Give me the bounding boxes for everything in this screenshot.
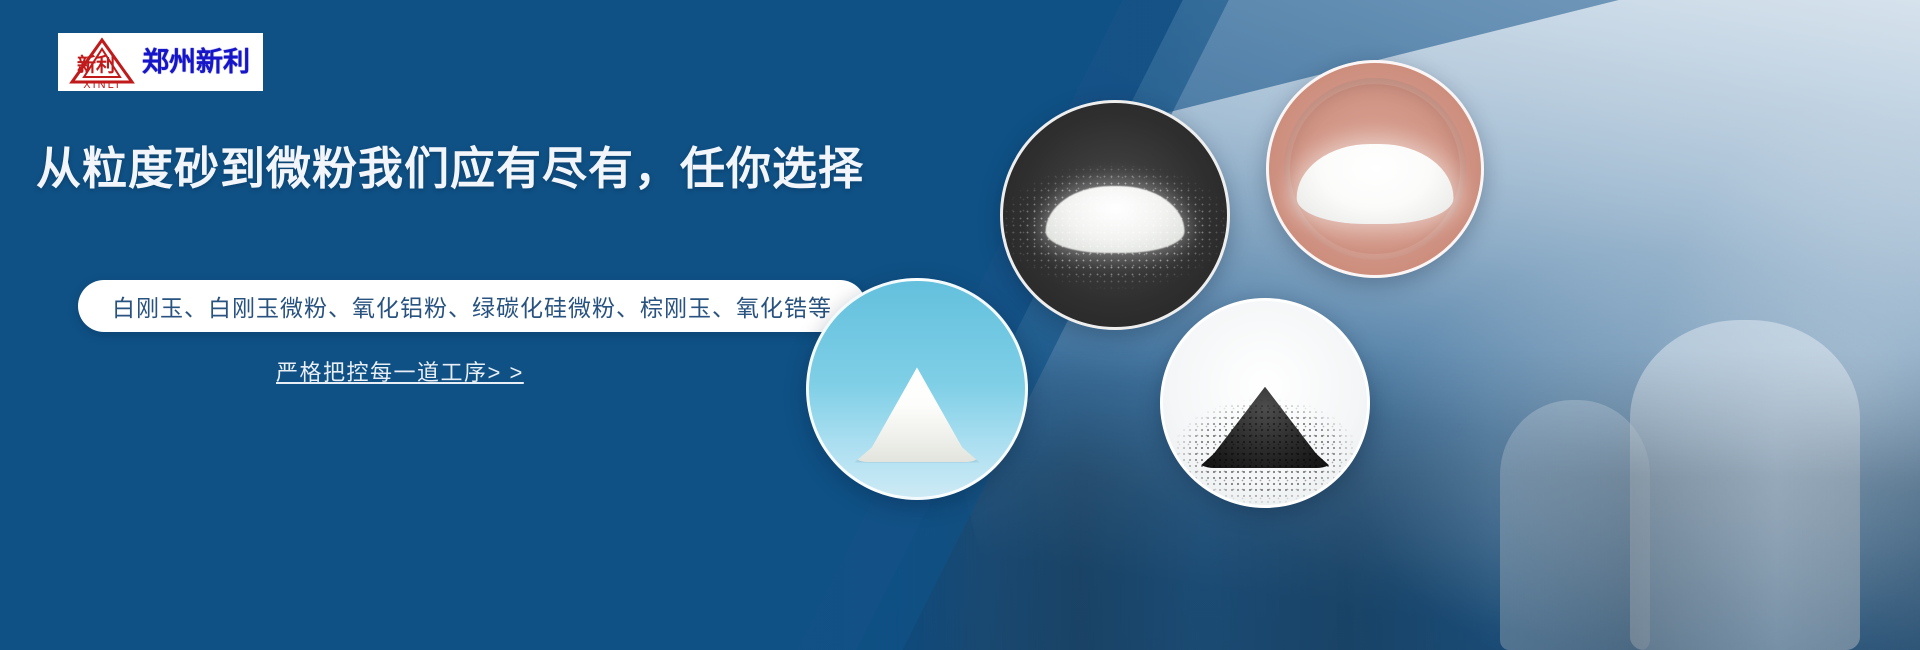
logo-mark-top-text: 新利: [77, 53, 115, 76]
material-heap: [854, 367, 979, 462]
company-logo[interactable]: 新利 XINLI 郑州新利: [58, 33, 263, 91]
product-image-black-grit-pile-on-white[interactable]: [1160, 298, 1370, 508]
cooling-tower-primary: [1630, 320, 1860, 650]
product-image-white-powder-in-pink-dish[interactable]: [1266, 60, 1484, 278]
product-list-text: 白刚玉、白刚玉微粉、氧化铝粉、绿碳化硅微粉、棕刚玉、氧化锆等: [112, 289, 832, 323]
product-image-white-powder-cone-on-blue[interactable]: [806, 278, 1028, 500]
logo-brand-text: 郑州新利: [142, 49, 250, 76]
banner-headline: 从粒度砂到微粉我们应有尽有，任你选择: [36, 144, 864, 194]
logo-mark-bottom-text: XINLI: [83, 79, 121, 89]
cooling-tower-secondary: [1500, 400, 1650, 650]
process-control-link[interactable]: 严格把控每一道工序> >: [276, 355, 524, 387]
xinli-triangle-icon: 新利 XINLI: [66, 35, 138, 89]
grain-texture: [1003, 103, 1227, 327]
grain-texture: [1163, 301, 1367, 505]
product-image-white-grit-on-dark-tray[interactable]: [1000, 100, 1230, 330]
hero-banner: 新利 XINLI 郑州新利 从粒度砂到微粉我们应有尽有，任你选择 白刚玉、白刚玉…: [0, 0, 1920, 650]
product-list-pill[interactable]: 白刚玉、白刚玉微粉、氧化铝粉、绿碳化硅微粉、棕刚玉、氧化锆等: [78, 280, 866, 332]
